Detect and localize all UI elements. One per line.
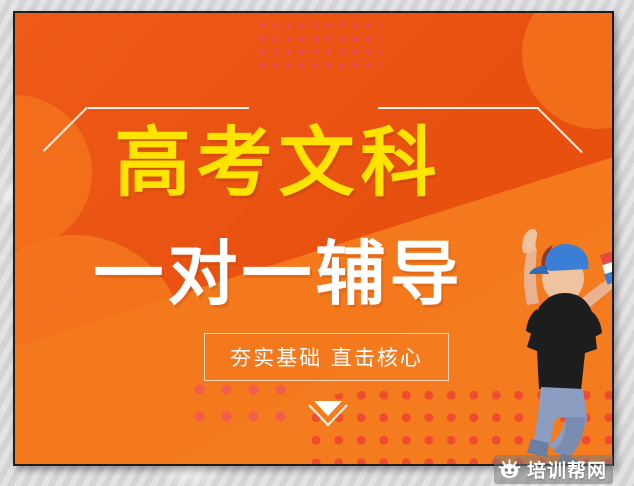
poster-title-sub: 一对一辅导: [15, 235, 542, 313]
poster-background: 高考文科 一对一辅导 夯实基础 直击核心: [15, 13, 612, 464]
jumping-student-illustration: [493, 221, 612, 464]
watermark-text: 培训帮网: [527, 456, 607, 483]
sun-face-icon: [498, 459, 521, 480]
poster-title-main: 高考文科: [15, 121, 542, 205]
headline-block: 高考文科 一对一辅导: [15, 121, 542, 313]
tagline-box: 夯实基础 直击核心: [204, 333, 449, 381]
tagline-text: 夯实基础 直击核心: [230, 342, 423, 372]
pink-dot-grid-top: [254, 15, 382, 73]
books: [600, 247, 612, 284]
pink-dot-grid-middle: [183, 373, 303, 431]
watermark: 培训帮网: [494, 455, 613, 484]
page-canvas: 高考文科 一对一辅导 夯实基础 直击核心: [0, 0, 634, 486]
down-arrow-icon: [304, 396, 352, 430]
poster-frame: 高考文科 一对一辅导 夯实基础 直击核心: [13, 11, 614, 466]
